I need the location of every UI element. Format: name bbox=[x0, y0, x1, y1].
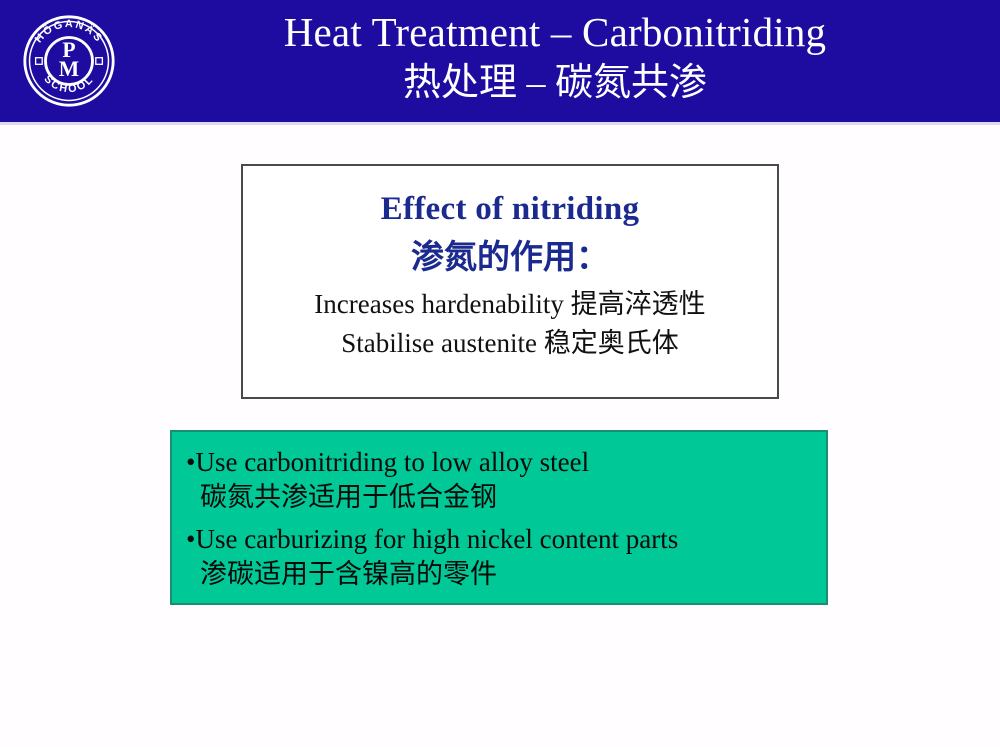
bullet-english-text-1: Use carbonitriding to low alloy steel bbox=[195, 447, 589, 477]
effect-box-title-english: Effect of nitriding bbox=[243, 189, 777, 229]
bullet-chinese-line-2: 渗碳适用于含镍高的零件 bbox=[186, 556, 820, 592]
svg-text:M: M bbox=[59, 57, 79, 81]
header-underline bbox=[0, 122, 1000, 125]
hoganas-pm-school-logo: HÖGANÄS SCHOOL P M bbox=[22, 14, 116, 108]
bullet-english-line-2: •Use carburizing for high nickel content… bbox=[186, 523, 820, 556]
effect-box-title-chinese: 渗氮的作用： bbox=[243, 238, 777, 278]
slide-title-english: Heat Treatment – Carbonitriding bbox=[130, 6, 980, 58]
slide-title-chinese: 热处理 – 碳氮共渗 bbox=[130, 58, 980, 108]
effect-box-line-2: Stabilise austenite 稳定奥氏体 bbox=[243, 325, 777, 361]
effect-of-nitriding-box: Effect of nitriding 渗氮的作用： Increases har… bbox=[241, 164, 779, 399]
effect-box-line-1: Increases hardenability 提高淬透性 bbox=[243, 286, 777, 322]
bullet-english-line-1: •Use carbonitriding to low alloy steel bbox=[186, 446, 820, 479]
bullet-item: •Use carburizing for high nickel content… bbox=[172, 515, 826, 592]
bullet-chinese-line-1: 碳氮共渗适用于低合金钢 bbox=[186, 479, 820, 515]
slide-title-block: Heat Treatment – Carbonitriding 热处理 – 碳氮… bbox=[130, 6, 980, 108]
recommendations-green-box: •Use carbonitriding to low alloy steel 碳… bbox=[170, 430, 828, 605]
bullet-english-text-2: Use carburizing for high nickel content … bbox=[195, 524, 678, 554]
bullet-item: •Use carbonitriding to low alloy steel 碳… bbox=[172, 432, 826, 515]
